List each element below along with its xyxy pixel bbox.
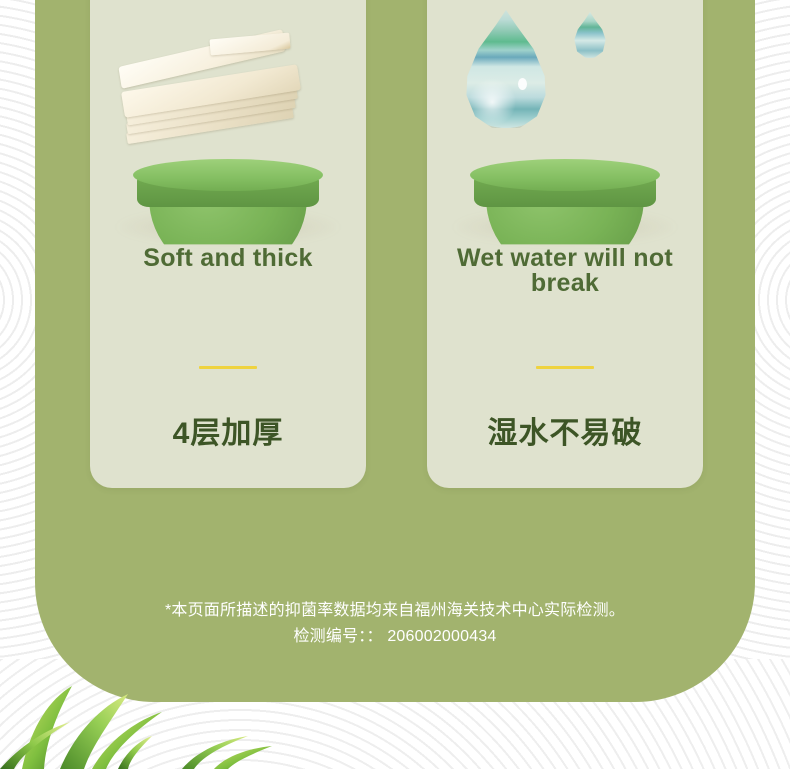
card-headline: Wet water will not break xyxy=(427,246,703,296)
footnote-line-1: *本页面所描述的抑菌率数据均来自福州海关技术中心实际检测。 xyxy=(35,598,755,624)
footnote-line-2: 检测编号：： 206002000434 xyxy=(35,624,755,650)
tissue-paper-stack-on-pedestal-icon xyxy=(90,0,366,245)
water-droplet-on-pedestal-icon xyxy=(427,0,703,245)
product-feature-banner: Soft and thick 4层加厚 Wet water will not b… xyxy=(0,0,790,769)
water-drop-large-icon xyxy=(463,10,549,128)
feature-card-soft-and-thick[interactable]: Soft and thick 4层加厚 xyxy=(90,0,366,488)
feature-card-wet-water-will-not-break[interactable]: Wet water will not break 湿水不易破 xyxy=(427,0,703,488)
pedestal-icon xyxy=(133,159,323,237)
water-drop-small-icon xyxy=(573,12,607,58)
card-cn-title: 湿水不易破 xyxy=(427,415,703,453)
card-cn-title: 4层加厚 xyxy=(90,415,366,453)
card-divider xyxy=(199,366,257,369)
pedestal-icon xyxy=(470,159,660,237)
card-divider xyxy=(536,366,594,369)
footnote: *本页面所描述的抑菌率数据均来自福州海关技术中心实际检测。 检测编号：： 206… xyxy=(35,598,755,650)
paper-stack-icon xyxy=(114,34,314,154)
card-headline: Soft and thick xyxy=(90,246,366,271)
